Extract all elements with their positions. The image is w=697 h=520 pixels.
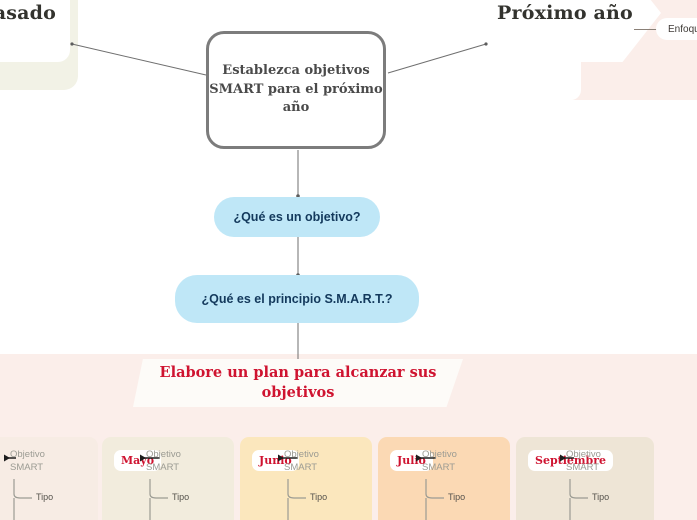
central-node-title: Establezca objetivos SMART para el próxi… [209, 62, 383, 119]
month-objective-node-line: SMART [146, 462, 181, 475]
branch-que-es-un-objetivo[interactable]: ¿Qué es un objetivo? [214, 197, 380, 237]
month-objective-node-line: SMART [284, 462, 319, 475]
month-leaf-label[interactable]: Tipo [36, 492, 53, 502]
node-proximo-ano-tail [486, 62, 581, 100]
mindmap-canvas: pasado Próximo año Enfoque Establezca ob… [0, 0, 697, 520]
month-leaf-label[interactable]: Tipo [448, 492, 465, 502]
month-leaf-label[interactable]: Tipo [592, 492, 609, 502]
month-leaf-label[interactable]: Tipo [172, 492, 189, 502]
month-objective-node-line: SMART [10, 462, 45, 475]
month-card[interactable]: ObjetivoSMARTTipoPasos [0, 437, 98, 520]
month-objective-node-line: Objetivo [146, 449, 181, 462]
node-ano-pasado-label: pasado [0, 2, 56, 24]
month-objective-node[interactable]: ObjetivoSMART [566, 449, 601, 475]
month-objective-node[interactable]: ObjetivoSMART [422, 449, 457, 475]
month-card[interactable]: MayoObjetivoSMARTTipoPasos [102, 437, 234, 520]
month-card[interactable]: JunioObjetivoSMARTTipoPasos [240, 437, 372, 520]
month-card[interactable]: JulioObjetivoSMARTTipoPasos [378, 437, 510, 520]
branch-que-es-un-objetivo-label: ¿Qué es un objetivo? [233, 210, 360, 224]
month-objective-node-line: SMART [422, 462, 457, 475]
month-objective-node-line: Objetivo [566, 449, 601, 462]
central-node[interactable]: Establezca objetivos SMART para el próxi… [206, 31, 386, 149]
branch-principio-smart[interactable]: ¿Qué es el principio S.M.A.R.T.? [175, 275, 419, 323]
month-objective-node-line: Objetivo [10, 449, 45, 462]
month-objective-node[interactable]: ObjetivoSMART [10, 449, 45, 475]
banner-elabore-plan[interactable]: Elabore un plan para alcanzar sus objeti… [133, 359, 463, 407]
month-objective-node-line: SMART [566, 462, 601, 475]
branch-principio-smart-label: ¿Qué es el principio S.M.A.R.T.? [202, 292, 393, 306]
node-enfoque-label: Enfoque [668, 24, 697, 35]
month-objective-node-line: Objetivo [422, 449, 457, 462]
banner-elabore-plan-label: Elabore un plan para alcanzar sus objeti… [133, 363, 463, 402]
node-enfoque[interactable]: Enfoque [656, 18, 697, 40]
node-ano-pasado[interactable]: pasado [0, 0, 70, 62]
month-objective-node[interactable]: ObjetivoSMART [284, 449, 319, 475]
month-card[interactable]: SeptiembreObjetivoSMARTTipoPasos [516, 437, 654, 520]
month-objective-node[interactable]: ObjetivoSMART [146, 449, 181, 475]
month-objective-node-line: Objetivo [284, 449, 319, 462]
node-proximo-ano-label: Próximo año [497, 2, 633, 24]
month-leaf-label[interactable]: Tipo [310, 492, 327, 502]
